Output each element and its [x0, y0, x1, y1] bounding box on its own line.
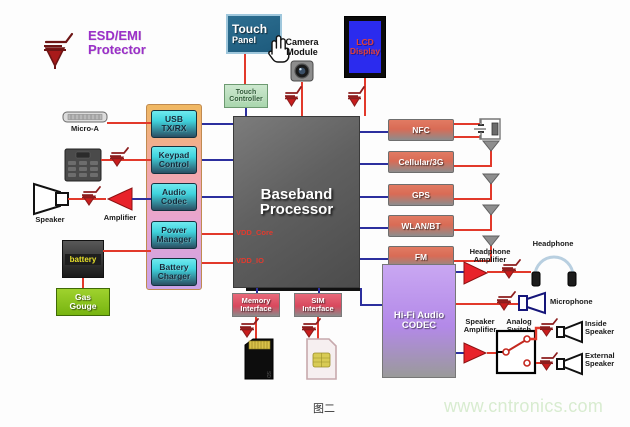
block-diagram-canvas: ESD/EMI Protector Touch Panel Touch Cont…: [0, 0, 630, 427]
antenna-icon-gps: [482, 173, 500, 185]
touch-panel-line1: Touch: [232, 23, 267, 35]
esd-protector-keypad-icon: [108, 147, 134, 171]
block-audio-codec[interactable]: Audio Codec: [151, 183, 197, 211]
baseband-line1: Baseband: [261, 187, 333, 202]
wire-controller-baseband: [245, 108, 247, 116]
microsd-card-icon: SD: [243, 337, 279, 381]
antenna-icon-fm: [482, 235, 500, 247]
gas-gauge-block[interactable]: Gas Gouge: [56, 288, 110, 316]
baseband-line2: Processor: [260, 202, 333, 217]
speaker-label: Speaker: [26, 216, 74, 224]
wire-cellular-antenna: [454, 165, 492, 167]
keypad-control-line2: Control: [159, 160, 189, 169]
headphone-icon: [530, 252, 578, 286]
svg-text:SD: SD: [265, 371, 271, 378]
wire-baseband-cellular: [360, 163, 388, 165]
esd-legend-line1: ESD/EMI: [88, 29, 178, 43]
rf-gps-label: GPS: [412, 191, 430, 200]
inside-speaker-label: Inside Speaker: [585, 320, 629, 336]
microphone-label: Microphone: [550, 298, 610, 306]
touch-controller-line1: Touch: [236, 89, 256, 96]
rf-block-nfc[interactable]: NFC: [388, 119, 454, 141]
wire-baseband-storage-bus: [246, 288, 362, 291]
wire-baseband-wlanbt: [360, 227, 388, 229]
rf-wlanbt-label: WLAN/BT: [401, 222, 440, 231]
esd-diode-icon: [40, 26, 86, 70]
vdd-io-label: VDD_IO: [236, 256, 264, 265]
sim-card-icon: [305, 337, 339, 381]
vdd-core-label: VDD_Core: [236, 228, 273, 237]
battery-charger-line2: Charger: [158, 272, 191, 281]
usb-connector-label: Micro-A: [62, 125, 108, 133]
rf-block-wlan-bt[interactable]: WLAN/BT: [388, 215, 454, 237]
battery-pack-icon: battery: [62, 240, 104, 278]
block-power-manager[interactable]: Power Manager: [151, 221, 197, 249]
external-speaker-label: External Speaker: [585, 352, 630, 368]
camera-lens-icon: [290, 60, 314, 82]
wire-baseband-fm: [360, 258, 388, 260]
memory-interface-line2: Interface: [240, 305, 271, 313]
wire-power-vddio: [202, 262, 233, 264]
rf-block-gps[interactable]: GPS: [388, 184, 454, 206]
antenna-icon-cellular: [482, 140, 500, 152]
codec-line2: CODEC: [402, 321, 436, 331]
wire-amp-audiocodec: [132, 198, 151, 200]
wire-gps-antenna: [454, 198, 492, 200]
wire-wlanbt-antenna: [454, 229, 492, 231]
wire-usbconn-usbblock: [107, 122, 151, 124]
wire-usb-baseband: [202, 123, 233, 125]
esd-legend-title: ESD/EMI Protector: [88, 29, 178, 56]
antenna-icon-wlanbt: [482, 204, 500, 216]
touch-controller-block[interactable]: Touch Controller: [224, 84, 268, 108]
amplifier-triangle-icon: [106, 186, 134, 212]
esd-protector-lcd-icon: [346, 84, 372, 108]
esd-protector-headphone-icon: [500, 259, 526, 283]
block-usb-txrx[interactable]: USB TX/RX: [151, 110, 197, 138]
esd-protector-speaker-icon: [80, 186, 106, 210]
sim-interface-line2: Interface: [302, 305, 333, 313]
esd-legend-line2: Protector: [88, 43, 178, 57]
gas-gauge-line2: Gouge: [70, 302, 97, 311]
rf-block-cellular-3g[interactable]: Cellular/3G: [388, 151, 454, 173]
touch-panel-line2: Panel: [232, 36, 256, 45]
wire-battery-powermanager: [103, 250, 151, 252]
lcd-screen: LCD Display: [349, 21, 381, 73]
wire-audio-baseband: [202, 196, 233, 198]
wire-baseband-gps: [360, 196, 388, 198]
memory-interface-block[interactable]: Memory Interface: [232, 293, 280, 317]
external-speaker-icon: [556, 352, 584, 376]
audio-codec-line2: Codec: [161, 197, 187, 206]
rf-fm-label: FM: [415, 253, 427, 262]
microphone-icon: [518, 292, 548, 314]
wire-bus-codec-h: [360, 304, 382, 306]
wire-bus-codec-v: [360, 288, 362, 304]
block-keypad-control[interactable]: Keypad Control: [151, 146, 197, 174]
watermark: www.cntronics.com: [444, 396, 624, 417]
rf-nfc-label: NFC: [412, 126, 429, 135]
block-battery-charger[interactable]: Battery Charger: [151, 258, 197, 286]
lcd-display-block[interactable]: LCD Display: [344, 16, 386, 78]
battery-text: battery: [65, 254, 101, 265]
inside-speaker-icon: [556, 320, 584, 344]
figure-caption: 图二: [294, 400, 354, 416]
touch-controller-line2: Controller: [229, 96, 262, 103]
headphone-label: Headphone: [518, 240, 588, 248]
external-speaker-line2: Speaker: [585, 360, 630, 368]
wire-power-vddcore: [202, 233, 233, 235]
headphone-amplifier-icon: [463, 261, 489, 285]
speaker-amplifier-icon: [463, 342, 489, 364]
wire-baseband-nfc: [360, 131, 388, 133]
speaker-icon: [30, 182, 70, 216]
camera-label-line2: Module: [276, 48, 328, 58]
amplifier-label: Amplifier: [98, 214, 142, 222]
camera-module-label: Camera Module: [276, 38, 328, 58]
power-manager-line2: Manager: [157, 235, 192, 244]
sim-interface-block[interactable]: SIM Interface: [294, 293, 342, 317]
usb-connector-icon: [62, 110, 108, 124]
inside-speaker-line2: Speaker: [585, 328, 629, 336]
esd-protector-camera-icon: [283, 84, 309, 108]
lcd-label-line2: Display: [350, 47, 380, 56]
wire-keypad-baseband: [202, 159, 233, 161]
usb-txrx-line2: TX/RX: [161, 124, 186, 133]
hifi-audio-codec-block[interactable]: Hi-Fi Audio CODEC: [382, 264, 456, 378]
rf-cellular-label: Cellular/3G: [399, 158, 444, 167]
keypad-icon: [64, 148, 102, 182]
